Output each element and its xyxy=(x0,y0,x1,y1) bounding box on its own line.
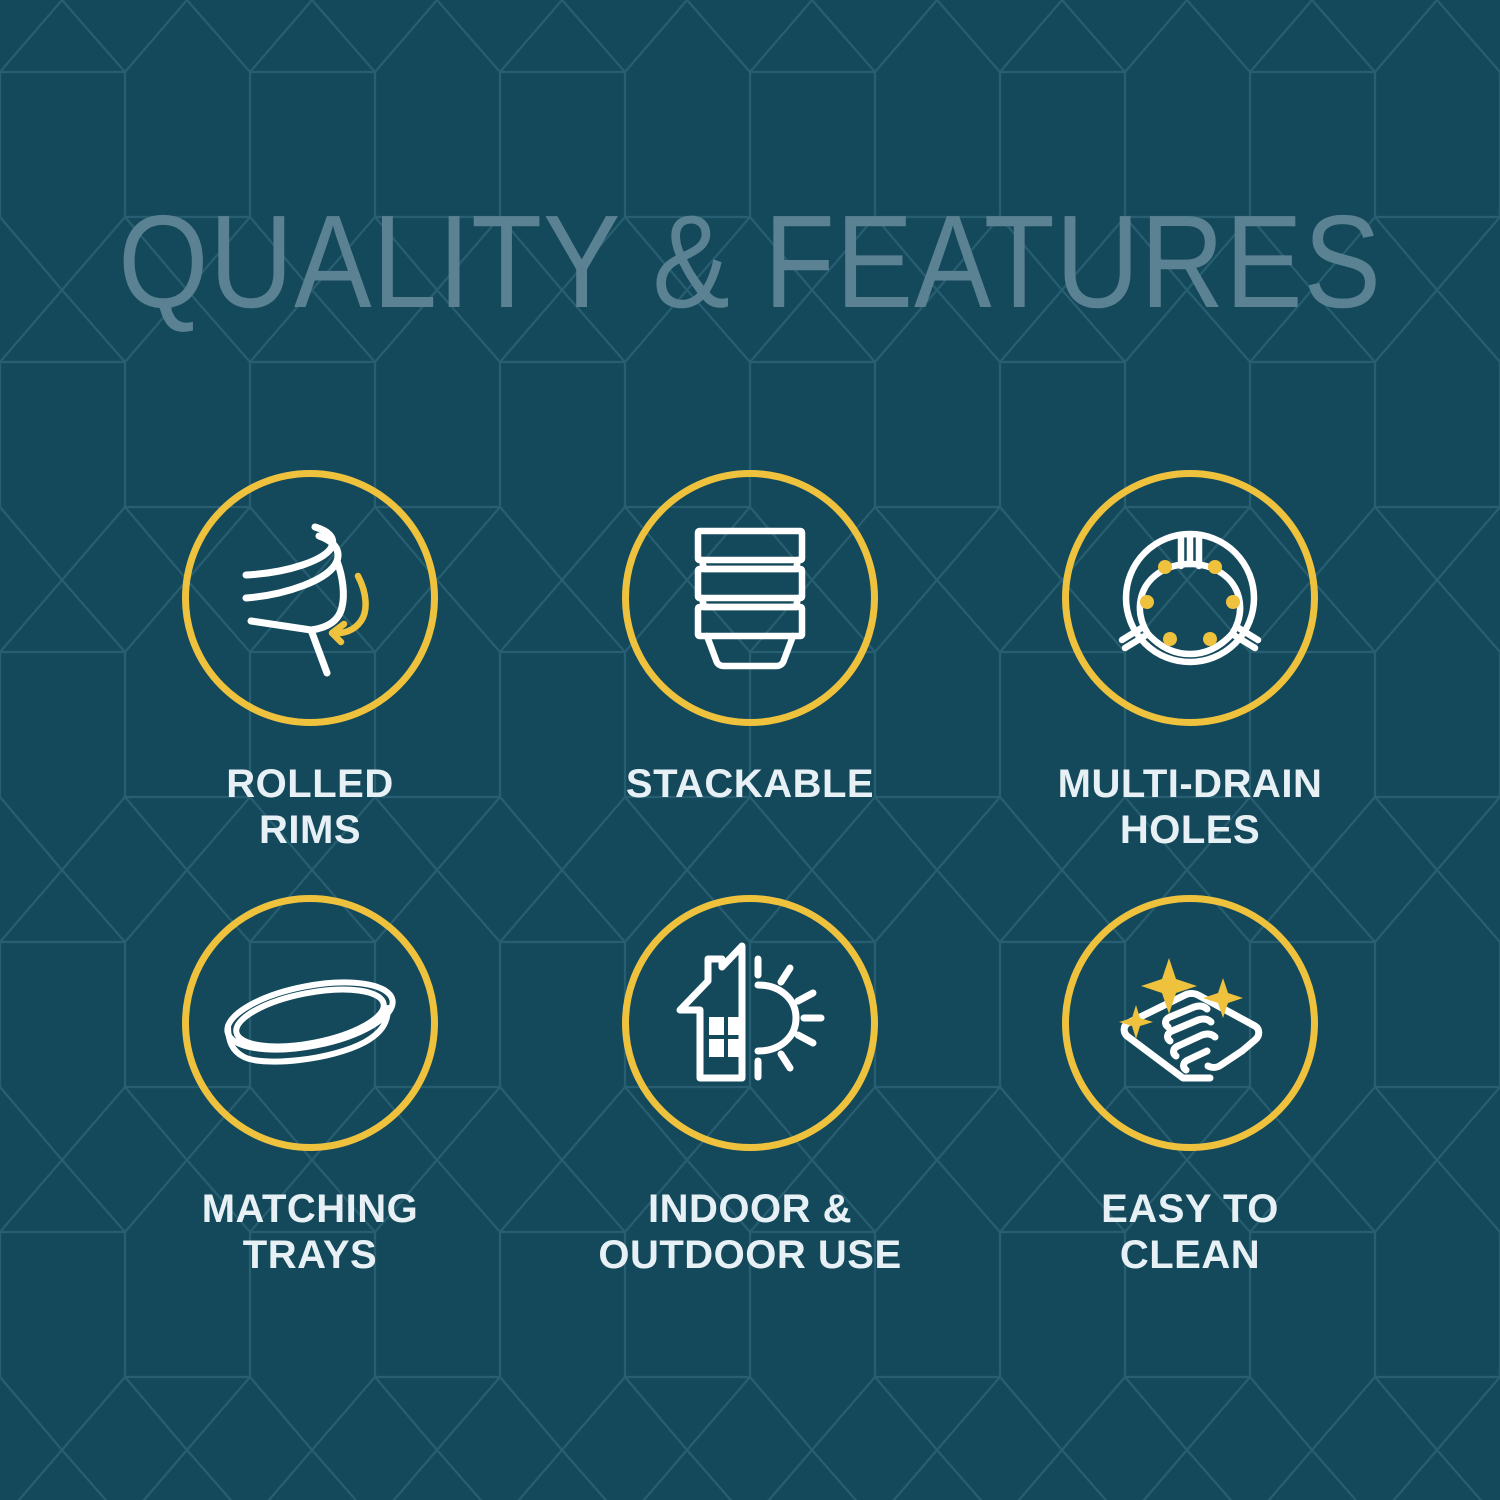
stacked-pots-icon xyxy=(655,503,845,693)
feature-easy-to-clean[interactable]: EASY TO CLEAN xyxy=(970,895,1410,1320)
feature-badge-easy-to-clean xyxy=(1062,895,1318,1151)
window-panes xyxy=(709,1017,742,1057)
feature-label-easy-to-clean: EASY TO CLEAN xyxy=(1101,1186,1279,1279)
hand-wiping-sparkle-icon xyxy=(1090,923,1290,1123)
tray-saucer-icon xyxy=(210,923,410,1123)
feature-label-indoor-outdoor-use: INDOOR & OUTDOOR USE xyxy=(598,1186,901,1279)
drain-holes-icon xyxy=(1095,503,1285,693)
feature-badge-multi-drain-holes xyxy=(1062,470,1318,726)
feature-indoor-outdoor-use[interactable]: INDOOR & OUTDOOR USE xyxy=(530,895,970,1320)
rolled-rim-icon xyxy=(215,503,405,693)
feature-badge-matching-trays xyxy=(182,895,438,1151)
feature-rolled-rims[interactable]: ROLLED RIMS xyxy=(90,470,530,895)
feature-label-rolled-rims: ROLLED RIMS xyxy=(226,761,393,854)
feature-stackable[interactable]: STACKABLE xyxy=(530,470,970,895)
feature-badge-stackable xyxy=(622,470,878,726)
infographic-page: QUALITY & FEATURES xyxy=(0,0,1500,1500)
feature-matching-trays[interactable]: MATCHING TRAYS xyxy=(90,895,530,1320)
feature-badge-rolled-rims xyxy=(182,470,438,726)
feature-multi-drain-holes[interactable]: MULTI-DRAIN HOLES xyxy=(970,470,1410,895)
feature-label-multi-drain-holes: MULTI-DRAIN HOLES xyxy=(1058,761,1323,854)
page-title: QUALITY & FEATURES xyxy=(90,196,1410,328)
feature-badge-indoor-outdoor-use xyxy=(622,895,878,1151)
feature-label-stackable: STACKABLE xyxy=(626,761,874,807)
features-grid: ROLLED RIMS xyxy=(90,470,1410,1320)
feature-label-matching-trays: MATCHING TRAYS xyxy=(202,1186,419,1279)
house-sun-icon xyxy=(650,923,850,1123)
